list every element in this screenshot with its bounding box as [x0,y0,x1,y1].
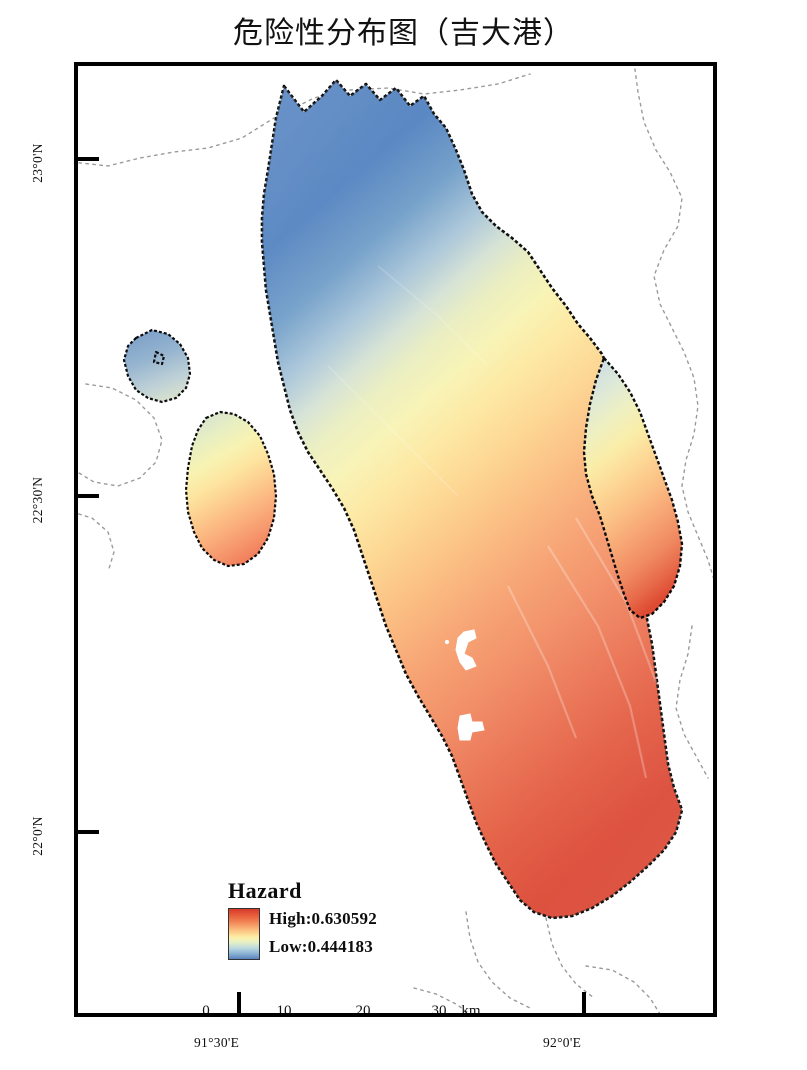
scalebar-tick-2: 20 [356,1003,371,1017]
legend-label-low: Low:0.444183 [269,937,377,957]
map-scalebar: 0 10 20 30 km [202,1003,458,1017]
axis-label-latitude-2: 22°30'N [30,458,46,542]
legend-title: Hazard [228,878,377,904]
scalebar-tick-0: 0 [202,1003,210,1017]
axis-tick-lat-3 [78,830,99,834]
scalebar-units: km [461,1003,480,1017]
axis-label-latitude-3: 22°0'N [30,794,46,878]
map-legend: Hazard High:0.630592 Low:0.444183 [228,878,377,960]
page-title: 危险性分布图（吉大港） [0,8,807,52]
map-canvas[interactable]: N Hazard High:0.630592 Low:0.444183 0 10… [74,62,717,1017]
axis-tick-lat-1 [78,157,99,161]
scalebar-tick-3: 30 [432,1003,447,1017]
axis-label-latitude-1: 23°0'N [30,121,46,205]
axis-label-longitude-1: 91°30'E [194,1035,239,1051]
scalebar-tick-1: 10 [277,1003,292,1017]
hazard-raster-map [78,66,713,1013]
legend-color-ramp [228,908,260,960]
axis-tick-lon-2 [582,992,586,1013]
legend-label-high: High:0.630592 [269,909,377,929]
axis-label-longitude-2: 92°0'E [543,1035,581,1051]
island-southwest [186,412,276,566]
axis-tick-lat-2 [78,494,99,498]
island-northwest [124,330,190,402]
